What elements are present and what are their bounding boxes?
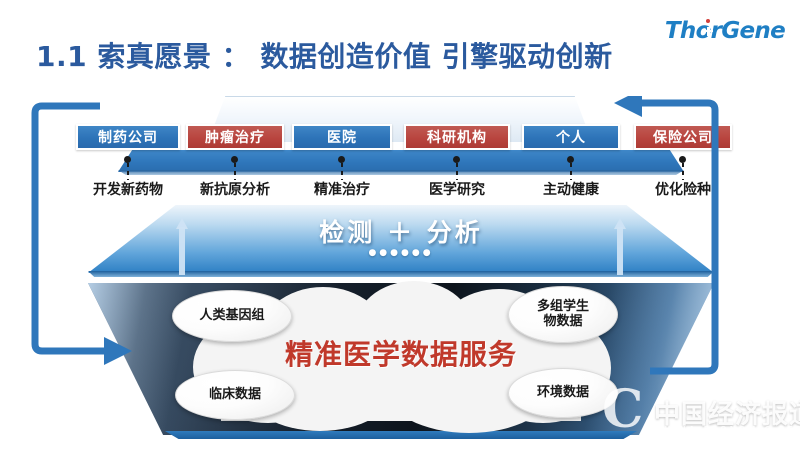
feedback-arrow-right-icon: [608, 96, 726, 386]
role-sublabel-oncology: 新抗原分析: [186, 180, 284, 198]
role-sublabel-individual: 主动健康: [522, 180, 620, 198]
feedback-arrow-left-icon: [30, 101, 140, 371]
bubble-clinical-data[interactable]: 临床数据: [175, 370, 295, 420]
role-sublabel-text: 主动健康: [543, 179, 599, 199]
slide-canvas: ThorGene 1.1 索真愿景 ： 数据创造价值 引擎驱动创新 检测 ＋ 分…: [0, 0, 800, 450]
top-layer-blue-slab: [118, 150, 684, 172]
page-title: 1.1 索真愿景 ： 数据创造价值 引擎驱动创新: [36, 35, 613, 75]
bubble-label: 多组学生 物数据: [537, 300, 589, 329]
logo-text-part2: Gene: [721, 18, 785, 44]
role-sublabel-text: 医学研究: [429, 179, 485, 199]
role-box-label: 科研机构: [427, 127, 487, 147]
role-box-label: 肿瘤治疗: [205, 127, 265, 147]
logo-dot-icon: [706, 19, 710, 23]
role-sublabel-text: 精准治疗: [314, 179, 370, 199]
watermark-chinese-text: 中国经济报道: [654, 394, 800, 431]
watermark-english-text: CHINA ECONOMIC REPORT: [656, 425, 800, 433]
bubble-multi-omics[interactable]: 多组学生 物数据: [508, 286, 618, 343]
bubble-label: 人类基因组: [199, 309, 264, 324]
role-box-oncology[interactable]: 肿瘤治疗: [186, 124, 284, 150]
bubble-environment-data[interactable]: 环境数据: [508, 368, 618, 418]
bubble-label: 临床数据: [209, 388, 261, 403]
role-box-research[interactable]: 科研机构: [404, 124, 510, 150]
bubble-label: 环境数据: [537, 386, 589, 401]
cross-icon: [704, 27, 713, 36]
role-box-hospital[interactable]: 医院: [292, 124, 392, 150]
role-box-individual[interactable]: 个人: [522, 124, 620, 150]
thorgene-logo: ThorGene: [655, 16, 785, 46]
bubble-human-genome[interactable]: 人类基因组: [172, 290, 292, 342]
role-sublabel-text: 新抗原分析: [200, 179, 270, 199]
role-box-label: 个人: [556, 127, 586, 147]
role-sublabel-research: 医学研究: [404, 180, 510, 198]
role-sublabel-hospital: 精准治疗: [292, 180, 392, 198]
role-box-label: 医院: [327, 127, 357, 147]
top-layer-blue-slab-edge: [118, 170, 684, 175]
